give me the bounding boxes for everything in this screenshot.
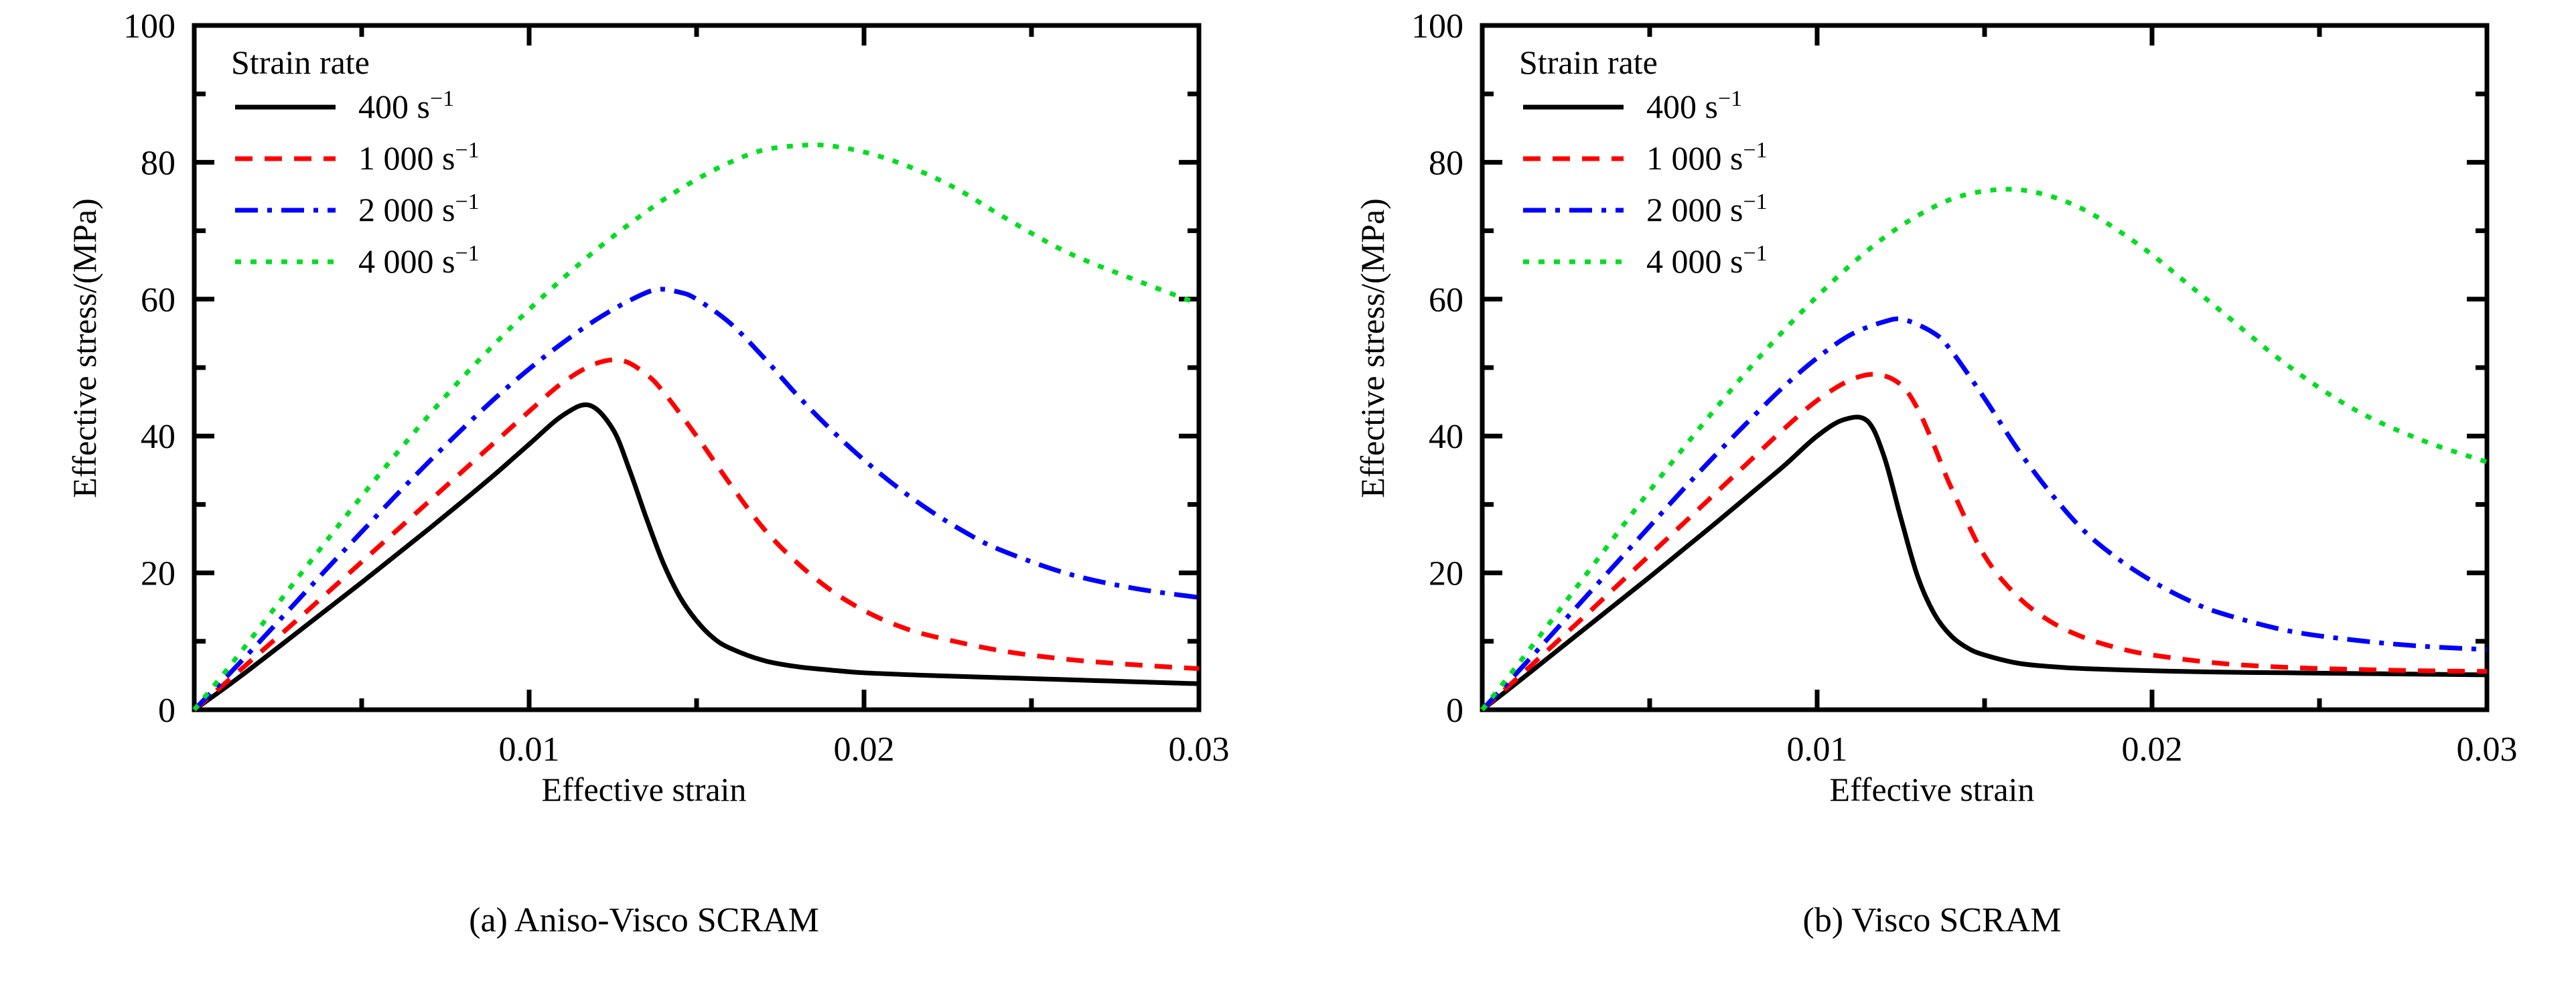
- y-tick-label: 0: [1446, 692, 1463, 730]
- x-tick-label: 0.02: [834, 730, 895, 769]
- legend-label-2: 2 000 s−1: [1646, 189, 1768, 228]
- y-tick-label: 40: [141, 418, 175, 456]
- x-tick-label: 0.01: [1787, 730, 1848, 769]
- axis-frame: [1482, 25, 2487, 710]
- x-tick-label: 0.02: [2122, 730, 2183, 769]
- legend-label-3: 4 000 s−1: [1646, 241, 1768, 280]
- legend-label-3: 4 000 s−1: [358, 241, 480, 280]
- legend-exponent: −1: [455, 241, 479, 266]
- plot-area-a: Effective stress/(MPa) 0204060801000.010…: [0, 0, 1288, 810]
- series-line-1: [1482, 374, 2487, 710]
- panel-b: Effective stress/(MPa) 0204060801000.010…: [1288, 0, 2576, 1001]
- y-tick-label: 100: [1411, 7, 1463, 46]
- series-line-3: [194, 145, 1199, 710]
- chart-svg-b: 0204060801000.010.020.03Strain rate400 s…: [1288, 0, 2576, 810]
- legend-label-1: 1 000 s−1: [1646, 138, 1768, 177]
- panel-caption-b: (b) Visco SCRAM: [1288, 901, 2576, 940]
- legend-exponent: −1: [455, 189, 479, 214]
- legend-exponent: −1: [1743, 138, 1767, 163]
- y-tick-label: 60: [1429, 281, 1463, 319]
- axis-frame: [194, 25, 1199, 710]
- legend-exponent: −1: [1743, 189, 1767, 214]
- y-tick-label: 80: [1429, 144, 1463, 182]
- y-tick-label: 80: [141, 144, 175, 182]
- legend-title: Strain rate: [231, 44, 370, 81]
- y-tick-label: 100: [123, 7, 175, 46]
- legend-label-0: 400 s−1: [358, 86, 454, 125]
- y-tick-label: 0: [158, 692, 175, 730]
- legend-label-2: 2 000 s−1: [358, 189, 480, 228]
- chart-svg-a: 0204060801000.010.020.03Strain rate400 s…: [0, 0, 1288, 810]
- legend-exponent: −1: [1718, 86, 1742, 111]
- figure-container: Effective stress/(MPa) 0204060801000.010…: [0, 0, 2576, 1001]
- x-axis-label-a: Effective strain: [0, 770, 1288, 809]
- legend-label-1: 1 000 s−1: [358, 138, 480, 177]
- series-line-3: [1482, 189, 2487, 710]
- x-tick-label: 0.03: [2457, 730, 2518, 769]
- legend-exponent: −1: [455, 138, 479, 163]
- panel-a: Effective stress/(MPa) 0204060801000.010…: [0, 0, 1288, 1001]
- x-tick-label: 0.01: [499, 730, 560, 769]
- legend-exponent: −1: [1743, 241, 1767, 266]
- y-tick-label: 40: [1429, 418, 1463, 456]
- legend-label-0: 400 s−1: [1646, 86, 1742, 125]
- series-line-1: [194, 360, 1199, 710]
- panel-caption-a: (a) Aniso-Visco SCRAM: [0, 901, 1288, 940]
- y-tick-label: 20: [1429, 555, 1463, 593]
- y-tick-label: 20: [141, 555, 175, 593]
- plot-area-b: Effective stress/(MPa) 0204060801000.010…: [1288, 0, 2576, 810]
- series-line-2: [194, 289, 1199, 710]
- legend-title: Strain rate: [1519, 44, 1658, 81]
- series-line-0: [1482, 417, 2487, 710]
- legend-exponent: −1: [430, 86, 454, 111]
- x-tick-label: 0.03: [1169, 730, 1230, 769]
- x-axis-label-b: Effective strain: [1288, 770, 2576, 809]
- y-tick-label: 60: [141, 281, 175, 319]
- series-line-0: [194, 404, 1199, 710]
